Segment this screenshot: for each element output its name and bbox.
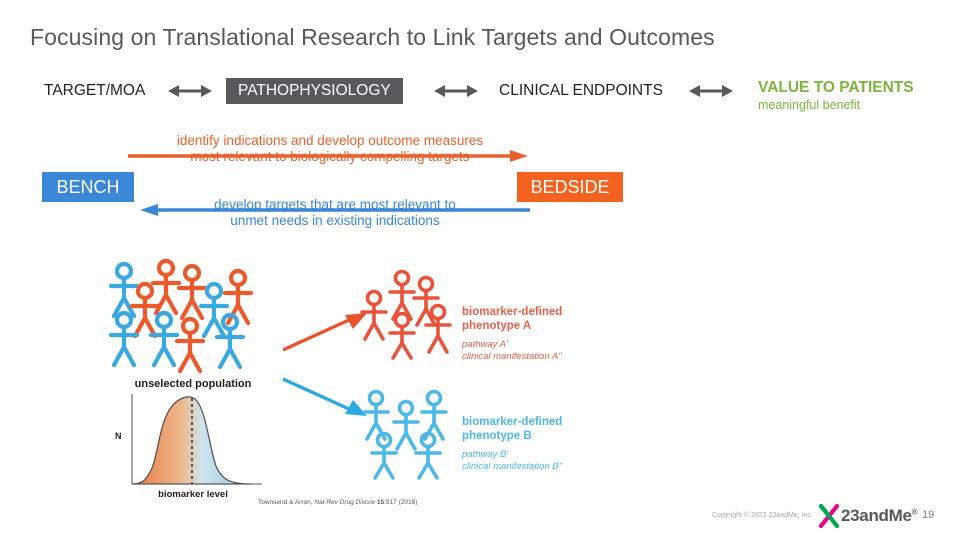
down-right-arrow-icon: [283, 375, 367, 419]
flow-item-pathophysiology: PATHOPHYSIOLOGY: [226, 78, 403, 104]
unselected-population-figures: [106, 258, 268, 380]
flow-item-clinical-endpoints: CLINICAL ENDPOINTS: [499, 78, 663, 104]
page-title: Focusing on Translational Research to Li…: [30, 24, 715, 51]
backward-arrow-caption: develop targets that are most relevant t…: [155, 197, 515, 228]
double-arrow-icon: [168, 82, 212, 100]
footer-logo: 23andMe®: [818, 504, 917, 528]
flow-diagram-row: TARGET/MOA PATHOPHYSIOLOGY CLINICAL ENDP…: [44, 78, 924, 114]
phenotype-b-figures: [358, 388, 458, 480]
citation-authors: Townsend & Arron,: [258, 499, 313, 506]
page-number: 19: [922, 509, 934, 521]
biomarker-distribution-chart: [112, 386, 272, 504]
meaningful-benefit-label: meaningful benefit: [758, 98, 914, 113]
phenotype-a-title: biomarker-defined phenotype A: [462, 305, 562, 333]
value-to-patients-label: VALUE TO PATIENTS: [758, 78, 914, 98]
phenotype-a-labels: biomarker-defined phenotype A pathway A'…: [462, 305, 562, 363]
phenotype-a-manifestation: clinical manifestation A'': [462, 351, 562, 362]
phenotype-b-subtitle: pathway B' clinical manifestation B'': [462, 449, 562, 473]
double-arrow-icon: [689, 82, 733, 100]
phenotype-a-subtitle: pathway A' clinical manifestation A'': [462, 339, 562, 363]
flow-item-value-to-patients: VALUE TO PATIENTS meaningful benefit: [758, 78, 914, 113]
phenotype-a-title-line1: biomarker-defined: [462, 306, 562, 318]
phenotype-b-manifestation: clinical manifestation B'': [462, 461, 562, 472]
footer-logo-text: 23andMe®: [841, 506, 917, 526]
footer-logo-tm: ®: [912, 507, 918, 516]
double-arrow-icon: [434, 82, 478, 100]
phenotype-a-figures: [358, 268, 458, 360]
phenotype-a-title-line2: phenotype A: [462, 320, 531, 332]
citation-rest: :517 (2016): [384, 499, 417, 506]
chart-x-axis-label: biomarker level: [128, 489, 258, 500]
figure-citation: Townsend & Arron, Nat Rev Drug Discov 15…: [258, 499, 417, 506]
footer-logo-wordmark: 23andMe: [841, 506, 912, 525]
chart-y-axis-label: N: [115, 431, 122, 441]
phenotype-b-title: biomarker-defined phenotype B: [462, 415, 562, 443]
up-right-arrow-icon: [283, 310, 367, 352]
phenotype-a-pathway: pathway A': [462, 339, 508, 350]
23andme-x-logo-icon: [818, 504, 840, 528]
phenotype-b-labels: biomarker-defined phenotype B pathway B'…: [462, 415, 562, 473]
backward-caption-line2: unmet needs in existing indications: [230, 213, 439, 228]
backward-caption-line1: develop targets that are most relevant t…: [214, 197, 456, 212]
flow-item-target-moa: TARGET/MOA: [44, 78, 145, 104]
forward-caption-line1: identify indications and develop outcome…: [177, 133, 483, 148]
right-arrow-icon: [128, 150, 528, 162]
slide-canvas: Focusing on Translational Research to Li…: [0, 0, 960, 540]
phenotype-b-pathway: pathway B': [462, 449, 508, 460]
bedside-box: BEDSIDE: [517, 172, 623, 202]
citation-journal: Nat Rev Drug Discov: [314, 499, 375, 506]
bench-box: BENCH: [42, 172, 134, 202]
footer-copyright: Copyright © 2022 23andMe, Inc.: [712, 512, 813, 519]
phenotype-b-title-line2: phenotype B: [462, 430, 532, 442]
phenotype-b-title-line1: biomarker-defined: [462, 416, 562, 428]
